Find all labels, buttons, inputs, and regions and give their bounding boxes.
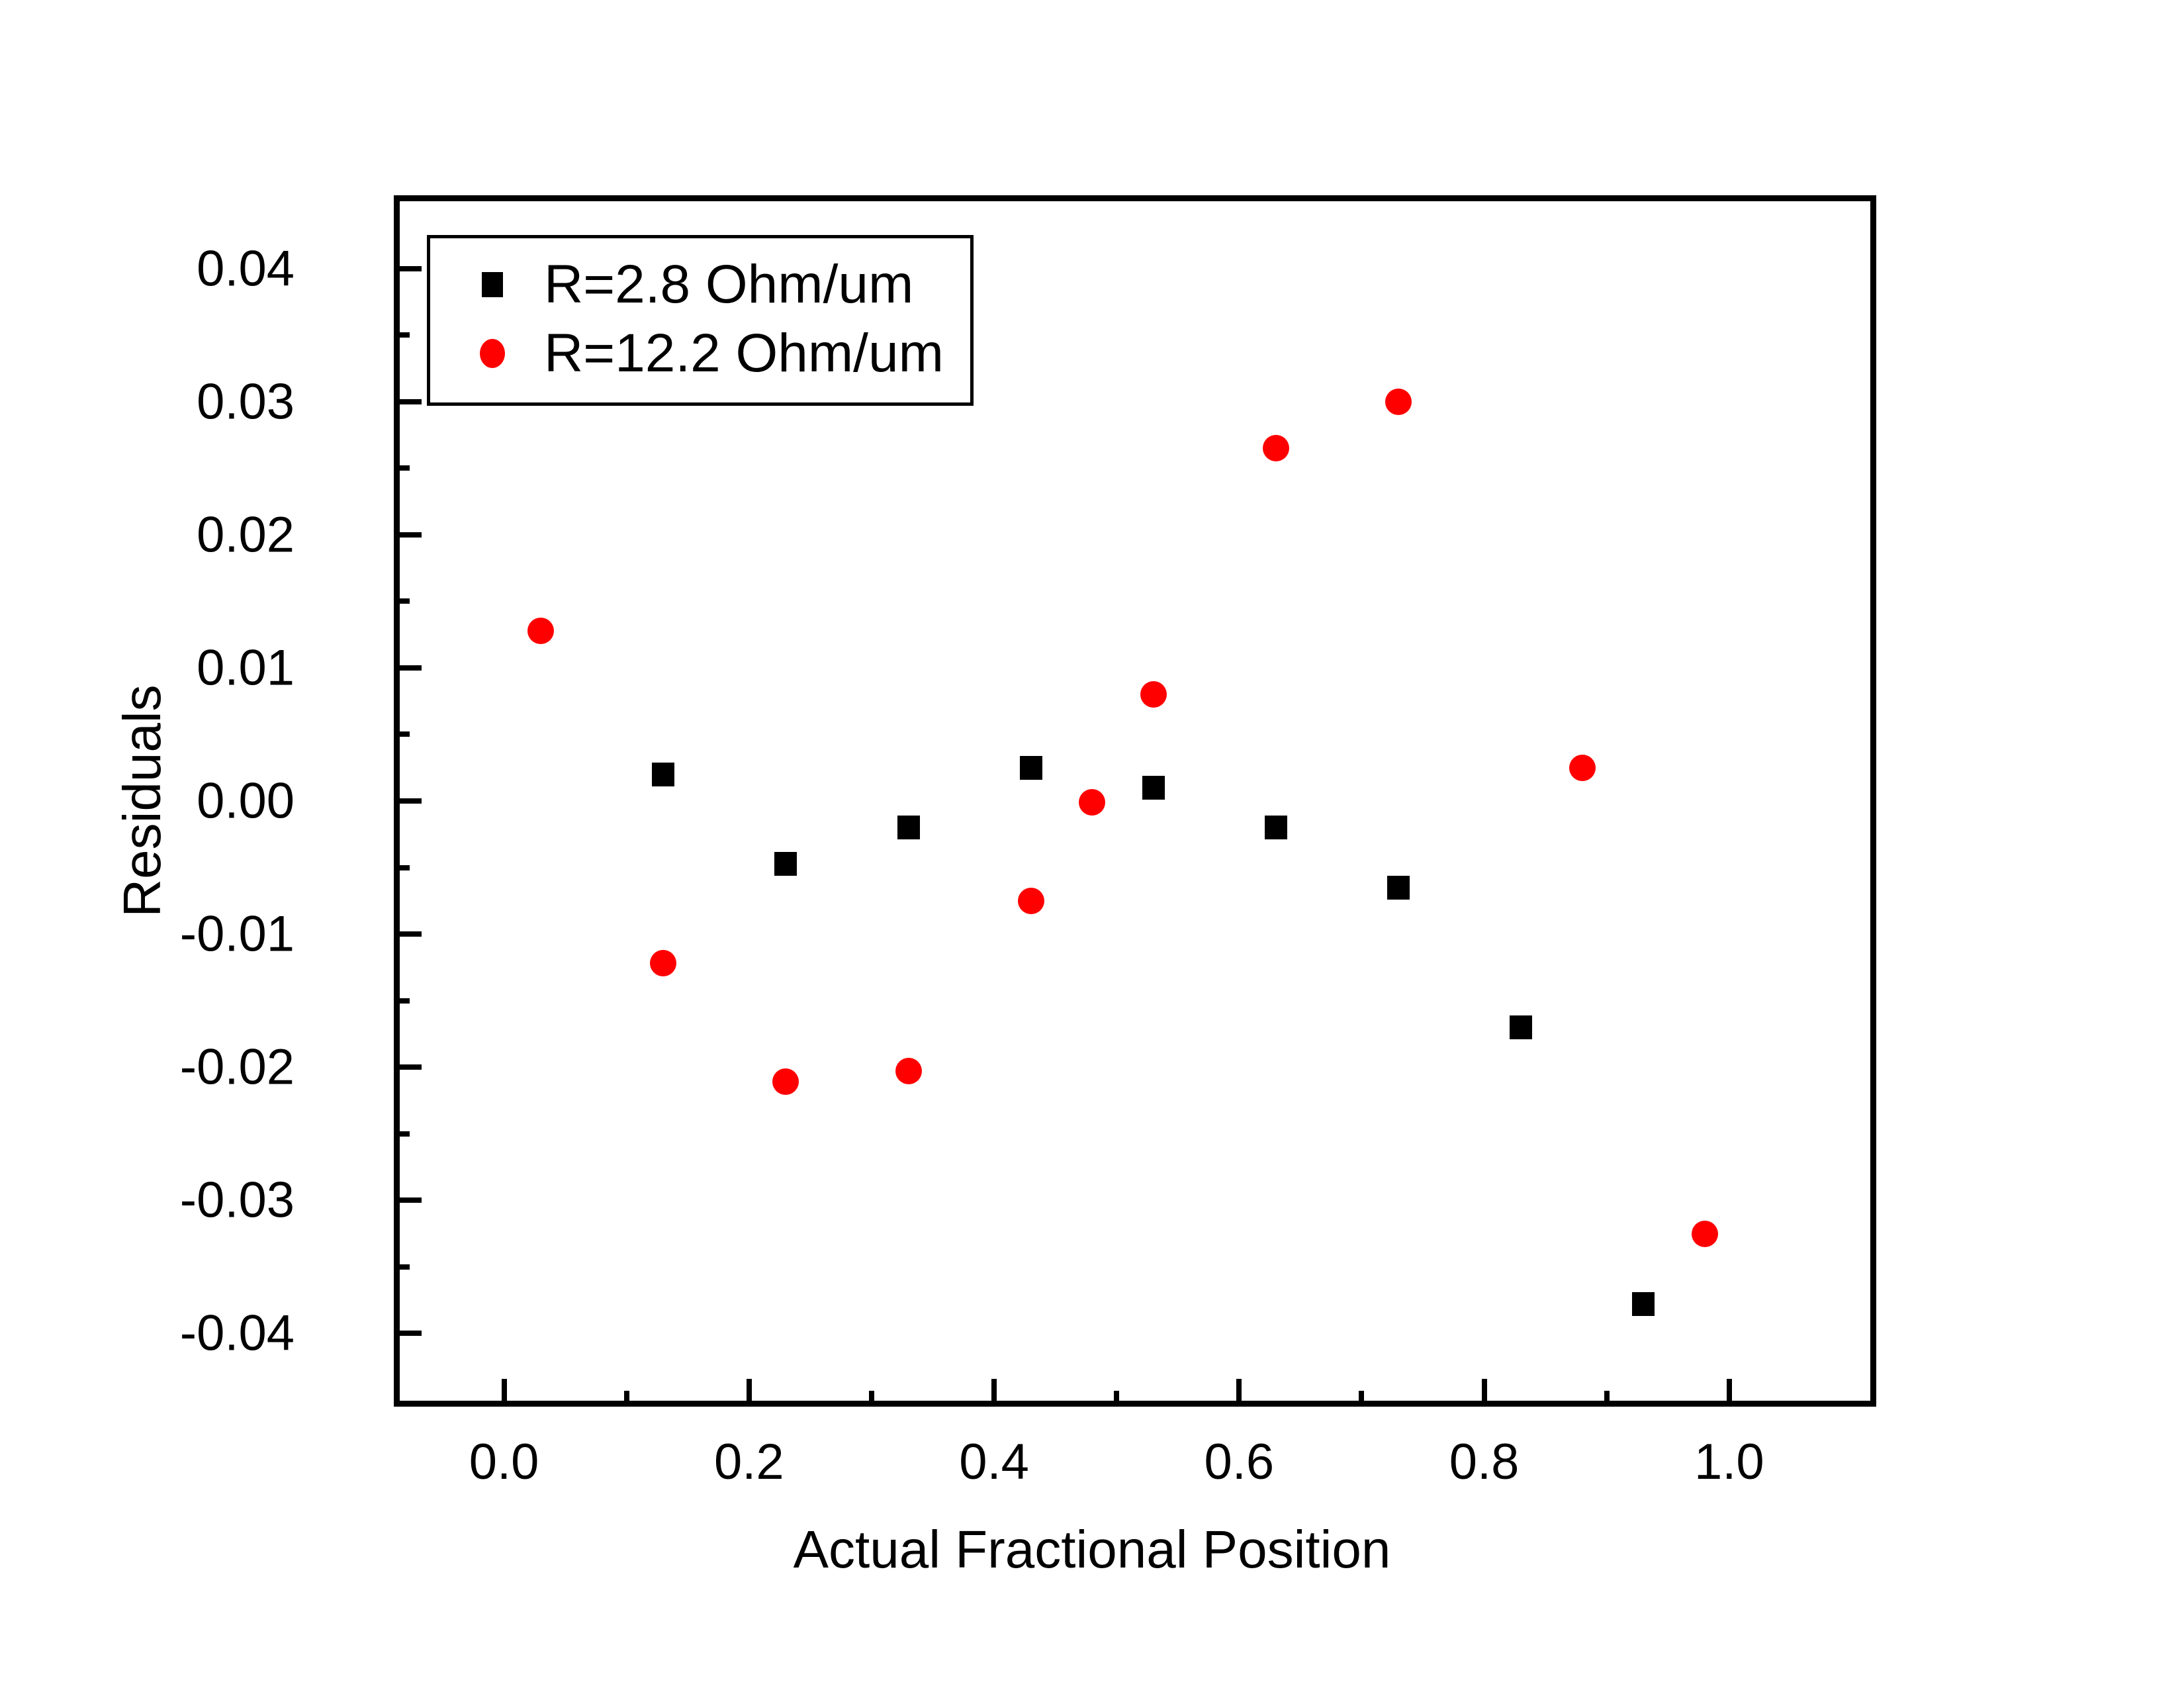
x-axis-minor-tick bbox=[1114, 1391, 1119, 1407]
data-point-series-1[interactable] bbox=[1632, 1292, 1655, 1316]
data-point-series-1[interactable] bbox=[1020, 756, 1042, 780]
data-point-series-2[interactable] bbox=[1140, 681, 1167, 708]
data-point-series-2[interactable] bbox=[650, 950, 676, 976]
data-point-series-1[interactable] bbox=[1142, 776, 1165, 800]
legend-circle-marker-icon bbox=[453, 339, 532, 368]
x-axis-major-tick bbox=[991, 1379, 997, 1407]
y-axis-minor-tick bbox=[394, 332, 410, 338]
y-axis-tick-label: 0.00 bbox=[197, 773, 295, 830]
data-point-series-2[interactable] bbox=[895, 1058, 922, 1084]
x-axis-tick-label: 0.6 bbox=[1205, 1433, 1275, 1491]
x-axis-major-tick bbox=[747, 1379, 752, 1407]
data-point-series-2[interactable] bbox=[1385, 389, 1412, 415]
x-axis-tick-label: 0.2 bbox=[714, 1433, 784, 1491]
legend-entry-series-1[interactable]: R=2.8 Ohm/um bbox=[453, 250, 944, 319]
x-axis-major-tick bbox=[502, 1379, 507, 1407]
x-axis-tick-label: 1.0 bbox=[1694, 1433, 1764, 1491]
y-axis-tick-label: 0.04 bbox=[197, 240, 295, 297]
legend-label-series-2: R=12.2 Ohm/um bbox=[544, 322, 944, 385]
data-point-series-1[interactable] bbox=[1387, 876, 1410, 900]
data-point-series-2[interactable] bbox=[772, 1068, 799, 1095]
y-axis-tick-label: -0.04 bbox=[180, 1305, 295, 1362]
x-axis-major-tick bbox=[1482, 1379, 1487, 1407]
x-axis-tick-label: 0.8 bbox=[1449, 1433, 1520, 1491]
data-point-series-2[interactable] bbox=[1079, 789, 1105, 816]
x-axis-tick-label: 0.0 bbox=[469, 1433, 539, 1491]
x-axis-major-tick bbox=[1727, 1379, 1732, 1407]
y-axis-tick-label: 0.01 bbox=[197, 639, 295, 696]
data-point-series-2[interactable] bbox=[1263, 435, 1289, 461]
x-axis-tick-label: 0.4 bbox=[959, 1433, 1029, 1491]
y-axis-minor-tick bbox=[394, 1131, 410, 1137]
data-point-series-1[interactable] bbox=[774, 852, 797, 876]
y-axis-minor-tick bbox=[394, 731, 410, 737]
y-axis-minor-tick bbox=[394, 1264, 410, 1270]
y-axis-major-tick bbox=[394, 532, 422, 538]
data-point-series-1[interactable] bbox=[652, 763, 674, 786]
y-axis-minor-tick bbox=[394, 998, 410, 1004]
y-axis-tick-label: -0.01 bbox=[180, 906, 295, 963]
y-axis-major-tick bbox=[394, 798, 422, 804]
y-axis-minor-tick bbox=[394, 598, 410, 604]
x-axis-major-tick bbox=[1236, 1379, 1242, 1407]
y-axis-major-tick bbox=[394, 1064, 422, 1070]
scatter-plot-figure: 0.040.030.020.010.00-0.01-0.02-0.03-0.04… bbox=[0, 0, 2184, 1688]
data-point-series-2[interactable] bbox=[527, 618, 554, 644]
data-point-series-1[interactable] bbox=[897, 816, 920, 839]
legend-entry-series-2[interactable]: R=12.2 Ohm/um bbox=[453, 319, 944, 388]
legend-square-marker-icon bbox=[453, 272, 532, 297]
legend-label-series-1: R=2.8 Ohm/um bbox=[544, 254, 913, 316]
y-axis-major-tick bbox=[394, 1331, 422, 1336]
y-axis-major-tick bbox=[394, 399, 422, 404]
y-axis-tick-label: 0.03 bbox=[197, 373, 295, 430]
y-axis-major-tick bbox=[394, 665, 422, 671]
data-point-series-1[interactable] bbox=[1265, 816, 1287, 839]
x-axis-title: Actual Fractional Position bbox=[0, 1519, 2184, 1580]
y-axis-tick-label: -0.03 bbox=[180, 1172, 295, 1229]
y-axis-minor-tick bbox=[394, 465, 410, 471]
x-axis-minor-tick bbox=[1604, 1391, 1610, 1407]
data-point-series-2[interactable] bbox=[1569, 755, 1596, 781]
y-axis-major-tick bbox=[394, 266, 422, 271]
x-axis-minor-tick bbox=[869, 1391, 874, 1407]
y-axis-tick-label: 0.02 bbox=[197, 506, 295, 563]
y-axis-major-tick bbox=[394, 931, 422, 937]
y-axis-title: Residuals bbox=[112, 684, 173, 917]
y-axis-major-tick bbox=[394, 1197, 422, 1203]
x-axis-minor-tick bbox=[624, 1391, 629, 1407]
x-axis-minor-tick bbox=[1359, 1391, 1364, 1407]
y-axis-minor-tick bbox=[394, 865, 410, 870]
data-point-series-2[interactable] bbox=[1018, 888, 1044, 914]
data-point-series-1[interactable] bbox=[1510, 1015, 1532, 1039]
legend[interactable]: R=2.8 Ohm/um R=12.2 Ohm/um bbox=[427, 235, 974, 406]
data-point-series-2[interactable] bbox=[1692, 1221, 1718, 1247]
y-axis-tick-label: -0.02 bbox=[180, 1039, 295, 1096]
